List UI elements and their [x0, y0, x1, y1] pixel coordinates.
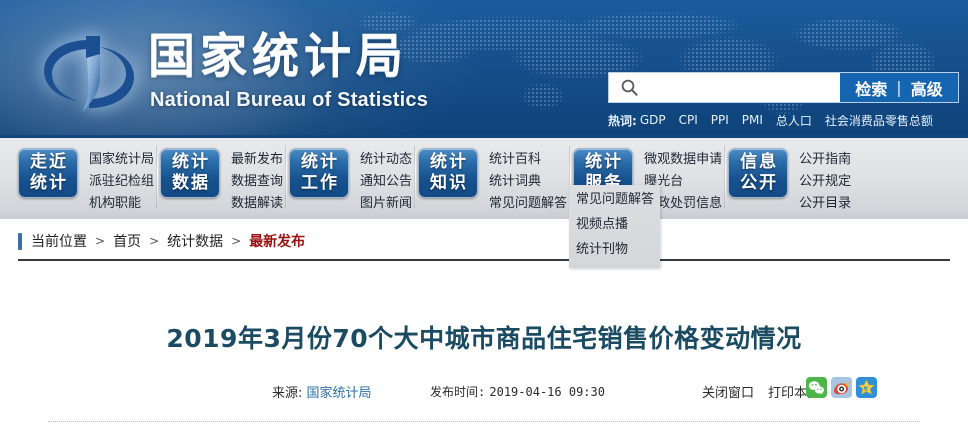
nav-badge-statistical-work[interactable]: 统计 工作 [289, 148, 349, 198]
breadcrumb-separator: > [149, 234, 159, 248]
nav-badge-line2: 工作 [299, 173, 339, 194]
nav-group-information-disclosure: 信息 公开 公开指南 公开规定 公开目录 [728, 138, 851, 215]
breadcrumb-item-home[interactable]: 首页 [113, 231, 141, 251]
nav-badge-line1: 信息 [738, 152, 778, 173]
nav-badge-line2: 知识 [428, 173, 468, 194]
breadcrumb-label: 当前位置 [31, 231, 87, 251]
hotwords-label: 热词: [608, 112, 637, 129]
article-source-value: 国家统计局 [307, 386, 372, 401]
nav-badge-line1: 统计 [170, 152, 210, 173]
article-actions: 关闭窗口 打印本页 [702, 382, 820, 401]
nav-badge-line1: 统计 [583, 152, 623, 173]
hotword-pmi[interactable]: PMI [742, 113, 763, 127]
nav-link-dictionary[interactable]: 统计词典 [489, 171, 567, 193]
weibo-share-icon[interactable] [831, 377, 852, 398]
breadcrumb-marker [18, 233, 22, 250]
search-icon [609, 73, 649, 102]
article-source: 来源: 国家统计局 [272, 382, 372, 401]
nav-links-statistical-knowledge: 统计百科 统计词典 常见问题解答 [489, 148, 567, 215]
hotword-ppi[interactable]: PPI [711, 113, 729, 127]
nav-link-disclosure-catalog[interactable]: 公开目录 [799, 193, 851, 215]
main-navigation: 走近 统计 国家统计局 派驻纪检组 机构职能 统计 数据 最新发布 数据查询 [0, 135, 968, 219]
nav-badge-line1: 统计 [299, 152, 339, 173]
hotword-retail-sales[interactable]: 社会消费品零售总额 [825, 112, 933, 129]
breadcrumb: 当前位置 > 首页 > 统计数据 > 最新发布 [18, 231, 305, 251]
site-header: 国家统计局 National Bureau of Statistics 检索 |… [0, 0, 968, 135]
hotwords-row: 热词: GDP CPI PPI PMI 总人口 社会消费品零售总额 [608, 110, 968, 130]
breadcrumb-separator: > [95, 234, 105, 248]
nav-group-statistical-knowledge: 统计 知识 统计百科 统计词典 常见问题解答 [418, 138, 567, 215]
nav-link-disclosure-guide[interactable]: 公开指南 [799, 149, 851, 171]
nav-badge-line2: 统计 [28, 173, 68, 194]
nav-link-statistical-news[interactable]: 统计动态 [360, 149, 412, 171]
article-block: 2019年3月份70个大中城市商品住宅销售价格变动情况 来源: 国家统计局 发布… [0, 261, 968, 436]
nav-link-microdata-application[interactable]: 微观数据申请 [644, 149, 722, 171]
nav-badge-statistical-knowledge[interactable]: 统计 知识 [418, 148, 478, 198]
close-window-button[interactable]: 关闭窗口 [702, 382, 754, 401]
hotword-gdp[interactable]: GDP [640, 113, 666, 127]
article-publish-time: 发布时间: 2019-04-16 09:30 [430, 383, 605, 400]
hotword-total-population[interactable]: 总人口 [776, 112, 812, 129]
breadcrumb-zone: 当前位置 > 首页 > 统计数据 > 最新发布 [0, 219, 968, 261]
breadcrumb-item-statistical-data[interactable]: 统计数据 [167, 231, 223, 251]
search-actions: 检索 | 高级 [840, 73, 958, 102]
nav-groups: 走近 统计 国家统计局 派驻纪检组 机构职能 统计 数据 最新发布 数据查询 [18, 138, 851, 219]
nav-link-encyclopedia[interactable]: 统计百科 [489, 149, 567, 171]
nav-divider [724, 146, 726, 208]
dropdown-item-publications[interactable]: 统计刊物 [569, 237, 660, 262]
nav-group-statistical-work: 统计 工作 统计动态 通知公告 图片新闻 [289, 138, 412, 215]
nav-links-statistical-data: 最新发布 数据查询 数据解读 [231, 148, 283, 215]
search-separator: | [896, 78, 901, 97]
page-title: 2019年3月份70个大中城市商品住宅销售价格变动情况 [0, 319, 968, 355]
advanced-search-link[interactable]: 高级 [911, 76, 943, 100]
article-bottom-rule [48, 421, 920, 422]
wechat-share-icon[interactable] [806, 377, 827, 398]
hotword-cpi[interactable]: CPI [679, 113, 698, 127]
nav-divider [414, 146, 416, 208]
nav-badge-statistical-data[interactable]: 统计 数据 [160, 148, 220, 198]
share-icons [806, 377, 877, 398]
nav-link-photo-news[interactable]: 图片新闻 [360, 193, 412, 215]
article-source-label: 来源: [272, 386, 302, 401]
nav-badge-information-disclosure[interactable]: 信息 公开 [728, 148, 788, 198]
nav-link-disclosure-rules[interactable]: 公开规定 [799, 171, 851, 193]
nav-link-data-interpretation[interactable]: 数据解读 [231, 193, 283, 215]
qzone-share-icon[interactable] [856, 377, 877, 398]
nav-link-functions[interactable]: 机构职能 [89, 193, 154, 215]
search-input[interactable] [649, 73, 840, 102]
nbs-emblem-logo[interactable] [38, 24, 140, 124]
breadcrumb-separator: > [231, 234, 241, 248]
dropdown-statistical-knowledge: 常见问题解答 视频点播 统计刊物 [569, 185, 660, 268]
nav-link-latest-releases[interactable]: 最新发布 [231, 149, 283, 171]
nav-link-data-query[interactable]: 数据查询 [231, 171, 283, 193]
nav-divider [285, 146, 287, 208]
article-time-label: 发布时间: [430, 385, 485, 399]
nav-group-approach-statistics: 走近 统计 国家统计局 派驻纪检组 机构职能 [18, 138, 154, 215]
nav-badge-line2: 公开 [738, 173, 778, 194]
nav-link-nbs[interactable]: 国家统计局 [89, 149, 154, 171]
search-bar: 检索 | 高级 [608, 72, 959, 103]
nav-badge-approach-statistics[interactable]: 走近 统计 [18, 148, 78, 198]
page-root: 国家统计局 National Bureau of Statistics 检索 |… [0, 0, 968, 436]
breadcrumb-current: 最新发布 [249, 231, 305, 251]
site-name-en: National Bureau of Statistics [150, 88, 428, 112]
nav-badge-line1: 统计 [428, 152, 468, 173]
search-submit-button[interactable]: 检索 [855, 76, 887, 100]
nav-links-statistical-work: 统计动态 通知公告 图片新闻 [360, 148, 412, 215]
dropdown-item-video-on-demand[interactable]: 视频点播 [569, 212, 660, 237]
nav-group-statistical-data: 统计 数据 最新发布 数据查询 数据解读 [160, 138, 283, 215]
nav-links-approach-statistics: 国家统计局 派驻纪检组 机构职能 [89, 148, 154, 215]
article-time-value: 2019-04-16 09:30 [489, 385, 605, 399]
nav-badge-line1: 走近 [28, 152, 68, 173]
nav-link-faq[interactable]: 常见问题解答 [489, 193, 567, 215]
nav-badge-line2: 数据 [170, 173, 210, 194]
nav-link-discipline-group[interactable]: 派驻纪检组 [89, 171, 154, 193]
nav-divider [156, 146, 158, 208]
site-brand: 国家统计局 National Bureau of Statistics [148, 30, 428, 112]
nav-link-announcements[interactable]: 通知公告 [360, 171, 412, 193]
site-name-cn: 国家统计局 [148, 30, 428, 84]
nav-links-information-disclosure: 公开指南 公开规定 公开目录 [799, 148, 851, 215]
dropdown-item-faq[interactable]: 常见问题解答 [569, 187, 660, 212]
